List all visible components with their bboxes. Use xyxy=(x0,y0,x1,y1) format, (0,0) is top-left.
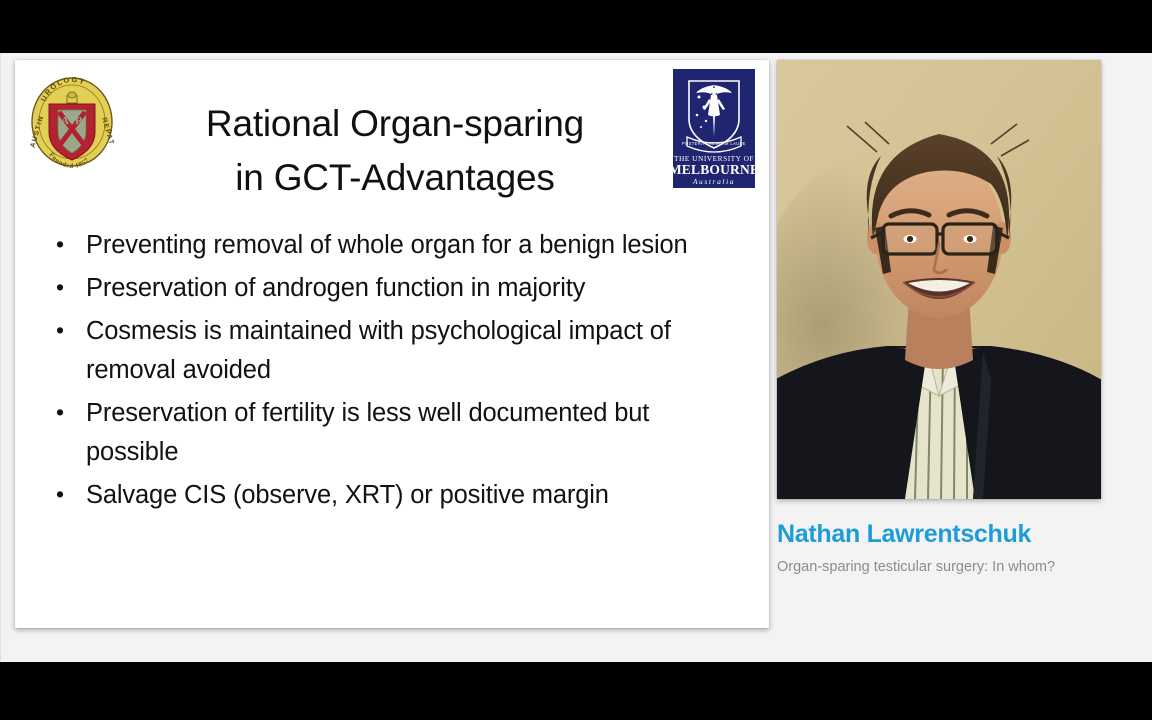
presentation-slide[interactable]: A R H UROLOGY Founded 1957 AUSTIN REPAT xyxy=(15,60,769,628)
slide-bullet-item: Preventing removal of whole organ for a … xyxy=(45,226,745,265)
speaker-panel: Nathan Lawrentschuk Organ-sparing testic… xyxy=(777,60,1101,577)
slide-header: A R H UROLOGY Founded 1957 AUSTIN REPAT xyxy=(15,60,769,188)
slide-title-line-1: Rational Organ-sparing xyxy=(125,97,665,151)
svg-text:R: R xyxy=(75,115,84,127)
video-player-stage: A R H UROLOGY Founded 1957 AUSTIN REPAT xyxy=(0,0,1152,720)
speaker-talk-title: Organ-sparing testicular surgery: In who… xyxy=(777,557,1067,577)
slide-bullet-list: Preventing removal of whole organ for a … xyxy=(45,226,745,519)
slide-content-area: A R H UROLOGY Founded 1957 AUSTIN REPAT xyxy=(0,53,1152,662)
svg-text:MELBOURNE: MELBOURNE xyxy=(673,162,755,177)
austin-urology-repat-logo: A R H UROLOGY Founded 1957 AUSTIN REPAT xyxy=(29,76,115,168)
svg-text:POSTERA CRESCAM LAUDE: POSTERA CRESCAM LAUDE xyxy=(682,141,746,146)
university-of-melbourne-logo: POSTERA CRESCAM LAUDE THE UNIVERSITY OF … xyxy=(673,69,755,188)
slide-bullet-item: Preservation of fertility is less well d… xyxy=(45,394,745,472)
slide-title: Rational Organ-sparing in GCT-Advantages xyxy=(125,97,665,205)
slide-bullet-item: Preservation of androgen function in maj… xyxy=(45,269,745,308)
svg-text:Australia: Australia xyxy=(692,177,735,186)
svg-text:H: H xyxy=(68,137,77,149)
svg-text:A: A xyxy=(61,115,69,127)
speaker-name[interactable]: Nathan Lawrentschuk xyxy=(777,519,1101,549)
slide-title-line-2: in GCT-Advantages xyxy=(125,151,665,205)
slide-bullet-item: Cosmesis is maintained with psychologica… xyxy=(45,312,745,390)
speaker-portrait-photo xyxy=(777,60,1101,499)
slide-bullet-item: Salvage CIS (observe, XRT) or positive m… xyxy=(45,476,745,515)
